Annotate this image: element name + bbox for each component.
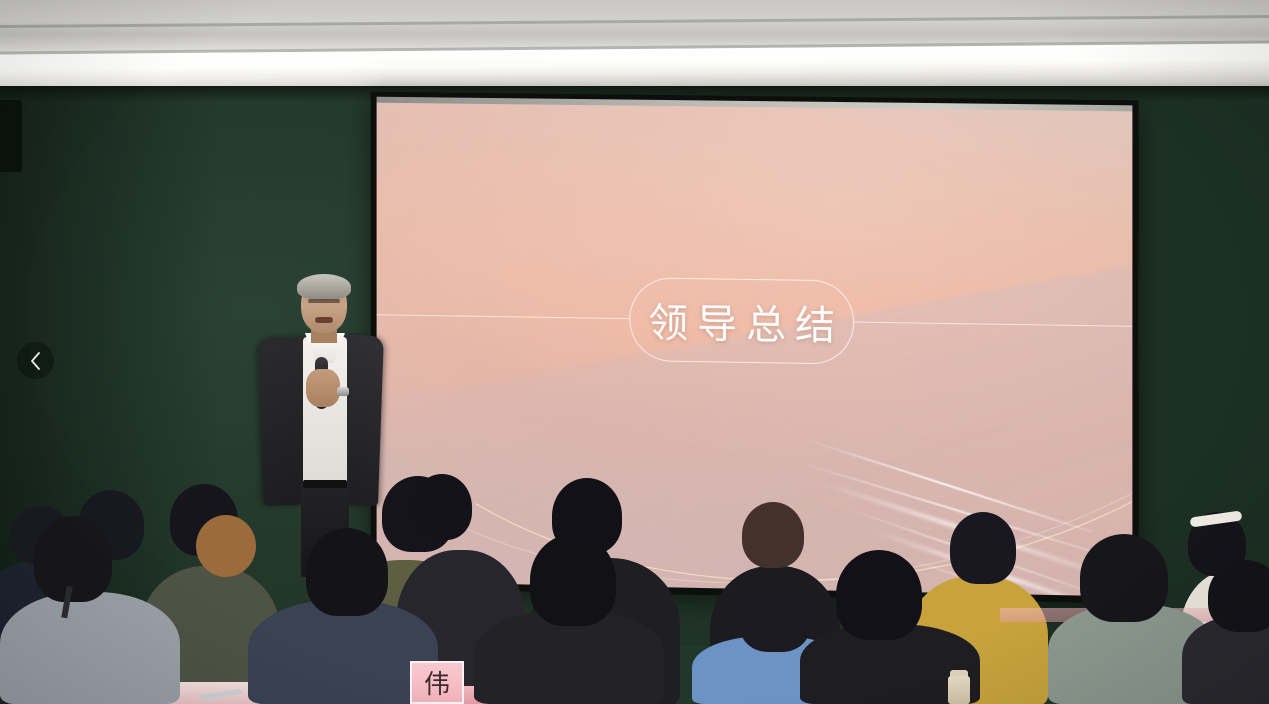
slide-rule-left bbox=[377, 314, 631, 319]
list-item bbox=[196, 515, 256, 577]
list-item bbox=[1080, 534, 1168, 622]
presenter-wristwatch bbox=[337, 387, 349, 396]
water-bottle bbox=[948, 676, 970, 704]
presenter-belt bbox=[303, 480, 347, 488]
slide-light-streak bbox=[804, 438, 1093, 533]
list-item bbox=[530, 534, 616, 626]
slide-title-text: 领导总结 bbox=[639, 290, 844, 351]
chevron-left-icon bbox=[29, 351, 42, 371]
ceiling-seam bbox=[0, 15, 1269, 28]
list-item bbox=[740, 590, 810, 652]
list-item bbox=[306, 528, 388, 616]
presenter-hands bbox=[306, 369, 340, 407]
slide-title-pill: 领导总结 bbox=[629, 277, 854, 364]
slide-rule-right bbox=[853, 322, 1132, 328]
list-item bbox=[412, 474, 472, 540]
list-item bbox=[34, 516, 112, 602]
list-item bbox=[1208, 560, 1269, 632]
photo-viewer: 领导总结 bbox=[0, 0, 1269, 704]
name-placard: 伟 bbox=[410, 661, 464, 704]
list-item bbox=[742, 502, 804, 568]
placard-name-text: 伟 bbox=[424, 664, 450, 701]
presenter-hair bbox=[297, 274, 351, 300]
presenter-mouth bbox=[315, 317, 333, 323]
wall-mounted-box bbox=[0, 100, 22, 172]
list-item bbox=[836, 550, 922, 640]
list-item bbox=[950, 512, 1016, 584]
presenter-face-detail bbox=[308, 299, 340, 303]
list-item bbox=[0, 592, 180, 704]
prev-button[interactable] bbox=[17, 342, 54, 379]
